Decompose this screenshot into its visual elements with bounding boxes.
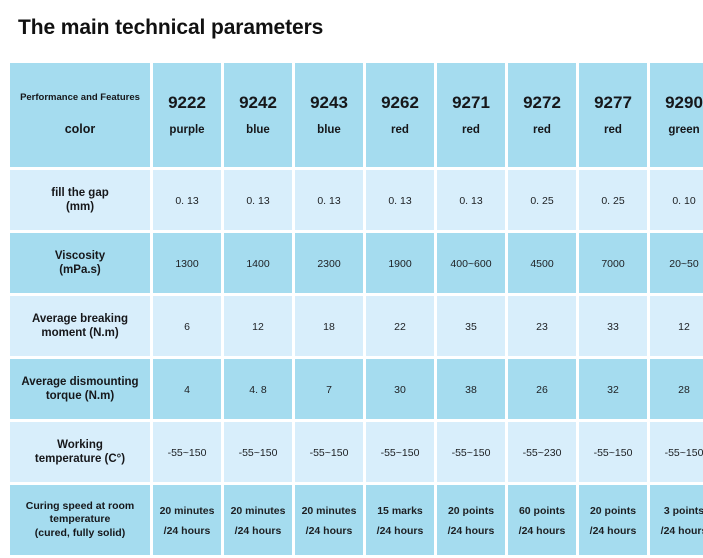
cell-value-line2: /24 hours [519,525,566,537]
data-cell: -55~150 [295,422,363,482]
row-label-line2: moment (N.m) [12,326,148,340]
page-title: The main technical parameters [18,16,323,40]
product-color: red [510,123,574,137]
data-cell: 0. 25 [508,170,576,230]
table-row: Average dismounting torque (N.m) 4 4. 8 … [10,359,703,419]
product-color: green [652,123,703,137]
data-cell: 28 [650,359,703,419]
data-cell: 18 [295,296,363,356]
header-label-color: color [12,122,148,138]
product-code: 9243 [297,92,361,113]
cell-value: 1400 [246,258,269,270]
row-label-fill-the-gap: fill the gap (mm) [10,170,150,230]
data-cell: 23 [508,296,576,356]
data-cell: 4 [153,359,221,419]
table-row: Curing speed at room temperature (cured,… [10,485,703,555]
data-cell: 0. 13 [153,170,221,230]
data-cell: 7 [295,359,363,419]
cell-value-line2: /24 hours [235,525,282,537]
product-code: 9277 [581,92,645,113]
cell-value: 1900 [388,258,411,270]
technical-parameters-page: The main technical parameters Performanc… [0,0,703,539]
product-color: red [581,123,645,137]
table-row: fill the gap (mm) 0. 13 0. 13 0. 13 0. 1… [10,170,703,230]
cell-value: -55~230 [523,447,562,459]
data-cell: 20 minutes /24 hours [224,485,292,555]
data-cell: 20 points /24 hours [579,485,647,555]
cell-value: -55~150 [310,447,349,459]
row-label-line3: (cured, fully solid) [35,527,125,539]
data-cell: 12 [650,296,703,356]
data-cell: 4500 [508,233,576,293]
data-cell: -55~230 [508,422,576,482]
header-cell-product-4: 9271 red [437,63,505,167]
cell-value: 12 [678,321,690,333]
cell-value: 0. 13 [175,195,198,207]
data-cell: 1900 [366,233,434,293]
cell-value-line2: /24 hours [164,525,211,537]
row-label-line2: torque (N.m) [12,389,148,403]
table-row: Viscosity (mPa.s) 1300 1400 2300 1900 40… [10,233,703,293]
cell-value: 23 [536,321,548,333]
data-cell: 20 minutes /24 hours [153,485,221,555]
data-cell: 7000 [579,233,647,293]
table-header-row: Performance and Features color 9222 purp… [10,63,703,167]
row-label-working-temperature: Working temperature (C°) [10,422,150,482]
data-cell: 32 [579,359,647,419]
header-label-performance: Performance and Features [12,92,148,104]
data-cell: -55~150 [437,422,505,482]
data-cell: 33 [579,296,647,356]
cell-value-line1: 60 points [519,505,565,517]
cell-value: 0. 25 [530,195,553,207]
cell-value: 26 [536,384,548,396]
data-cell: -55~150 [224,422,292,482]
data-cell: 0. 13 [224,170,292,230]
product-code: 9290 [652,92,703,113]
cell-value: 0. 13 [246,195,269,207]
cell-value-line2: /24 hours [448,525,495,537]
data-cell: 22 [366,296,434,356]
row-label-line2: (mPa.s) [12,263,148,277]
cell-value: -55~150 [594,447,633,459]
data-cell: 0. 25 [579,170,647,230]
cell-value: 4. 8 [249,384,267,396]
data-cell: 400~600 [437,233,505,293]
data-cell: 0. 13 [295,170,363,230]
cell-value: 6 [184,321,190,333]
cell-value-line1: 3 points [664,505,703,517]
cell-value: 35 [465,321,477,333]
cell-value: 400~600 [450,258,491,270]
row-label-line2: temperature (C°) [12,452,148,466]
row-label-viscosity: Viscosity (mPa.s) [10,233,150,293]
header-cell-product-5: 9272 red [508,63,576,167]
cell-value: 7 [326,384,332,396]
row-label-line2: temperature [50,513,111,525]
data-cell: 3 points /24 hours [650,485,703,555]
cell-value: 38 [465,384,477,396]
cell-value-line2: /24 hours [661,525,703,537]
cell-value: -55~150 [168,447,207,459]
cell-value: 22 [394,321,406,333]
cell-value: 20~50 [669,258,699,270]
data-cell: 6 [153,296,221,356]
data-cell: 30 [366,359,434,419]
product-code: 9242 [226,92,290,113]
cell-value-line1: 20 minutes [160,505,215,517]
header-cell-product-3: 9262 red [366,63,434,167]
data-cell: -55~150 [650,422,703,482]
data-cell: 20 minutes /24 hours [295,485,363,555]
row-label-line1: fill the gap [51,187,109,199]
header-cell-product-2: 9243 blue [295,63,363,167]
row-label-average-dismounting-torque: Average dismounting torque (N.m) [10,359,150,419]
cell-value: 0. 13 [317,195,340,207]
row-label-line1: Curing speed at room [26,500,135,512]
product-code: 9262 [368,92,432,113]
header-cell-product-0: 9222 purple [153,63,221,167]
product-color: red [368,123,432,137]
data-cell: 60 points /24 hours [508,485,576,555]
product-color: blue [297,123,361,137]
technical-parameters-table: Performance and Features color 9222 purp… [7,60,703,558]
data-cell: 2300 [295,233,363,293]
product-code: 9222 [155,92,219,113]
data-cell: 35 [437,296,505,356]
cell-value: 7000 [601,258,624,270]
cell-value-line1: 15 marks [377,505,423,517]
data-cell: -55~150 [153,422,221,482]
cell-value: 1300 [175,258,198,270]
row-label-average-breaking-moment: Average breaking moment (N.m) [10,296,150,356]
data-cell: 38 [437,359,505,419]
table-row: Average breaking moment (N.m) 6 12 18 22… [10,296,703,356]
cell-value: 32 [607,384,619,396]
row-label-line2: (mm) [12,200,148,214]
cell-value: 0. 13 [459,195,482,207]
cell-value: 28 [678,384,690,396]
cell-value-line2: /24 hours [377,525,424,537]
cell-value: 2300 [317,258,340,270]
header-cell-product-6: 9277 red [579,63,647,167]
cell-value: -55~150 [665,447,703,459]
row-label-line1: Viscosity [55,250,105,262]
cell-value: 4 [184,384,190,396]
cell-value-line1: 20 minutes [302,505,357,517]
data-cell: 20~50 [650,233,703,293]
product-color: red [439,123,503,137]
row-label-curing-speed: Curing speed at room temperature (cured,… [10,485,150,555]
cell-value: 0. 13 [388,195,411,207]
row-label-line1: Average breaking [32,313,128,325]
data-cell: 0. 13 [366,170,434,230]
cell-value: 0. 10 [672,195,695,207]
row-label-line1: Working [57,439,103,451]
cell-value-line1: 20 points [448,505,494,517]
data-cell: -55~150 [366,422,434,482]
product-code: 9271 [439,92,503,113]
data-cell: 12 [224,296,292,356]
cell-value: 0. 25 [601,195,624,207]
cell-value-line2: /24 hours [590,525,637,537]
data-cell: 1300 [153,233,221,293]
header-cell-product-7: 9290 green [650,63,703,167]
cell-value: 30 [394,384,406,396]
cell-value-line1: 20 points [590,505,636,517]
data-cell: 20 points /24 hours [437,485,505,555]
cell-value: 12 [252,321,264,333]
spec-table-container: Performance and Features color 9222 purp… [7,60,703,558]
cell-value: -55~150 [381,447,420,459]
data-cell: -55~150 [579,422,647,482]
product-code: 9272 [510,92,574,113]
cell-value-line2: /24 hours [306,525,353,537]
cell-value: -55~150 [452,447,491,459]
cell-value: -55~150 [239,447,278,459]
cell-value-line1: 20 minutes [231,505,286,517]
data-cell: 0. 10 [650,170,703,230]
header-label-cell: Performance and Features color [10,63,150,167]
table-row: Working temperature (C°) -55~150 -55~150… [10,422,703,482]
data-cell: 0. 13 [437,170,505,230]
data-cell: 26 [508,359,576,419]
product-color: purple [155,123,219,137]
cell-value: 33 [607,321,619,333]
cell-value: 4500 [530,258,553,270]
cell-value: 18 [323,321,335,333]
header-cell-product-1: 9242 blue [224,63,292,167]
data-cell: 4. 8 [224,359,292,419]
data-cell: 1400 [224,233,292,293]
product-color: blue [226,123,290,137]
row-label-line1: Average dismounting [21,376,138,388]
data-cell: 15 marks /24 hours [366,485,434,555]
